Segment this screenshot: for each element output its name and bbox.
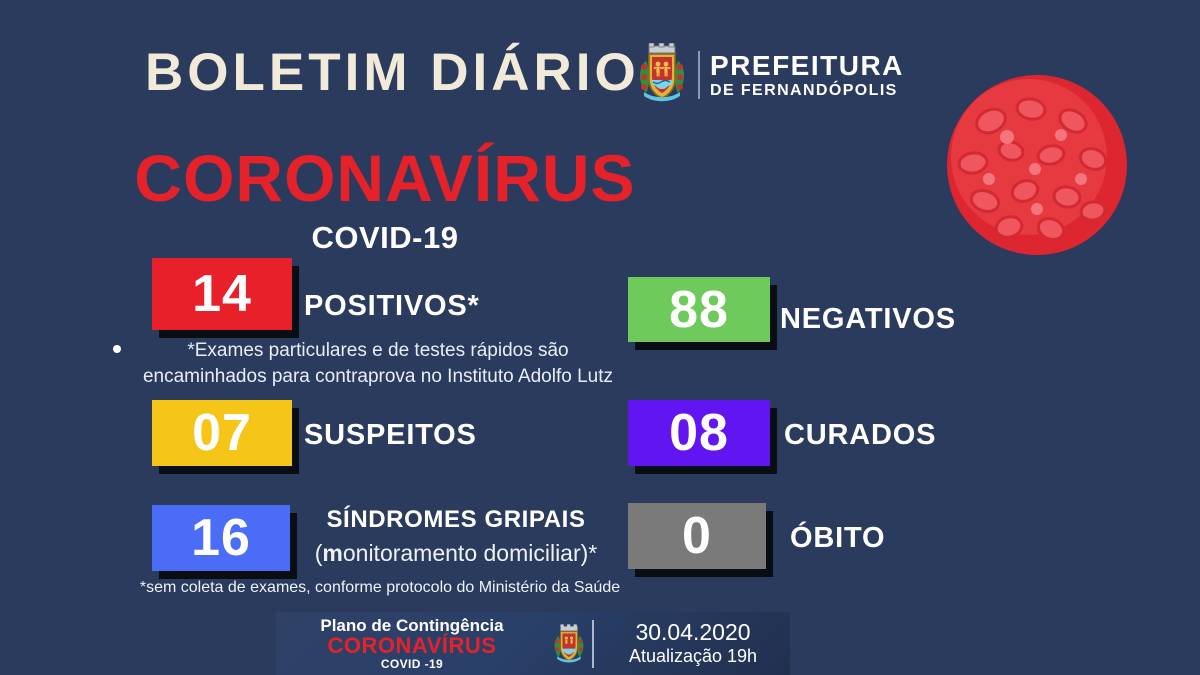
- stat-value-negativos: 88: [669, 284, 729, 336]
- stat-value-suspeitos: 07: [192, 407, 252, 459]
- brand-divider: [698, 51, 700, 99]
- page-title: BOLETIM DIÁRIO: [145, 42, 640, 103]
- sub-title-covid19: COVID-19: [0, 220, 770, 256]
- stat-value-curados: 08: [669, 407, 729, 459]
- footer-plano-line2: CORONAVÍRUS: [276, 635, 548, 657]
- stat-box-suspeitos: 07: [152, 400, 292, 466]
- stat-label-curados: CURADOS: [784, 419, 936, 452]
- footer-divider: [592, 620, 594, 668]
- prefeitura-brand-lockup: PREFEITURA DE FERNANDÓPOLIS: [636, 43, 904, 107]
- footer-plano-line1: Plano de Contingência: [276, 617, 548, 634]
- stat-label-positivos: POSITIVOS*: [304, 290, 480, 323]
- stat-value-obito: 0: [682, 510, 712, 562]
- stat-label-suspeitos: SUSPEITOS: [304, 419, 477, 452]
- stat-value-positivos: 14: [192, 268, 252, 320]
- brand-line-cidade: DE FERNANDÓPOLIS: [710, 83, 904, 99]
- stat-label-obito: ÓBITO: [790, 522, 885, 555]
- stat-box-obito: 0: [628, 503, 766, 569]
- footer-bar: Plano de Contingência CORONAVÍRUS COVID …: [276, 612, 790, 675]
- stat-label-sindromes-gripais-line1: SÍNDROMES GRIPAIS: [300, 506, 612, 534]
- footer-update-time: Atualização 19h: [596, 646, 790, 667]
- stat-value-sindromes-gripais: 16: [191, 512, 251, 564]
- coronavirus-particle-icon: [893, 22, 1181, 308]
- stat-box-negativos: 88: [628, 277, 770, 342]
- stat-label-sindromes-gripais-line2: (monitoramento domiciliar)*: [300, 540, 612, 567]
- footer-plano-line3: COVID -19: [276, 658, 548, 670]
- brand-text: PREFEITURA DE FERNANDÓPOLIS: [710, 52, 904, 99]
- stat-box-sindromes-gripais: 16: [152, 505, 290, 571]
- coat-of-arms-icon: [548, 624, 590, 664]
- monitoramento-bold-m: m: [322, 540, 342, 566]
- stat-label-sindromes-gripais: SÍNDROMES GRIPAIS (monitoramento domicil…: [300, 506, 612, 567]
- stat-label-negativos: NEGATIVOS: [780, 303, 956, 336]
- bullet-dot-icon: [113, 345, 121, 353]
- monitoramento-rest: onitoramento domiciliar)*: [343, 540, 597, 566]
- stat-box-positivos: 14: [152, 258, 292, 330]
- footer-plano-contingencia: Plano de Contingência CORONAVÍRUS COVID …: [276, 617, 548, 671]
- footnote-sindromes-gripais: *sem coleta de exames, conforme protocol…: [120, 579, 640, 597]
- footnote-positivos: *Exames particulares e de testes rápidos…: [128, 338, 628, 390]
- coat-of-arms-icon: [636, 43, 688, 108]
- footer-date-block: 30.04.2020 Atualização 19h: [596, 619, 790, 667]
- main-title-coronavirus: CORONAVÍRUS: [0, 140, 770, 216]
- stat-box-curados: 08: [628, 400, 770, 466]
- footer-date: 30.04.2020: [596, 619, 790, 646]
- brand-line-prefeitura: PREFEITURA: [710, 52, 904, 80]
